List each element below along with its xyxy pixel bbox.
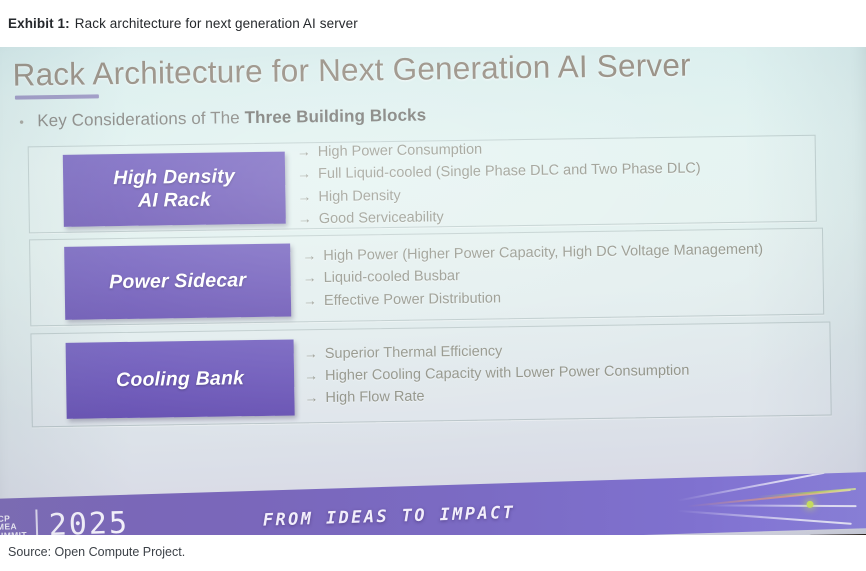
block-chip-label-line1: Power Sidecar — [109, 269, 246, 294]
slide-photo: Rack Architecture for Next Generation AI… — [0, 47, 866, 535]
bullet-icon: • — [19, 114, 37, 129]
slide-surface: Rack Architecture for Next Generation AI… — [0, 47, 866, 535]
block-chip-cooling-bank: Cooling Bank — [66, 339, 295, 418]
arrow-icon: → — [304, 343, 318, 364]
arrow-icon: → — [297, 142, 311, 163]
key-considerations-line: • Key Considerations of The Three Buildi… — [19, 105, 426, 131]
light-streak-decoration — [677, 510, 852, 525]
key-considerations-prefix: Key Considerations of The — [37, 108, 245, 130]
arrow-icon: → — [302, 268, 316, 289]
block-point-text: Effective Power Distribution — [324, 287, 501, 312]
banner-tagline: FROM IDEAS TO IMPACT — [262, 503, 515, 531]
block-chip-high-density-ai-rack: High Density AI Rack — [63, 152, 286, 227]
source-note: Source: Open Compute Project. — [8, 545, 185, 559]
exhibit-label: Exhibit 1: — [8, 16, 70, 31]
block-point-text: High Density — [318, 184, 401, 207]
arrow-icon: → — [298, 208, 312, 229]
exhibit-title: Rack architecture for next generation AI… — [75, 16, 358, 31]
block-point-text: High Flow Rate — [325, 386, 424, 409]
block-points-list: → High Power Consumption → Full Liquid-c… — [297, 137, 702, 228]
arrow-icon: → — [297, 164, 311, 185]
arrow-icon: → — [304, 387, 318, 408]
building-block-row: Power Sidecar → High Power (Higher Power… — [29, 228, 824, 327]
block-points-list: → Superior Thermal Efficiency → Higher C… — [303, 325, 690, 423]
block-point: → Good Serviceability — [298, 202, 702, 230]
title-underline — [15, 94, 99, 99]
block-chip-label-line1: Cooling Bank — [116, 367, 244, 392]
arrow-icon: → — [302, 246, 316, 267]
ocp-summit-logo: OCP EMEA SUMMIT 2025 — [0, 506, 130, 535]
building-block-row: Cooling Bank → Superior Thermal Efficien… — [30, 322, 831, 428]
block-point: → High Flow Rate — [304, 382, 690, 410]
key-considerations-emphasis: Three Building Blocks — [244, 105, 426, 127]
block-point-text: Superior Thermal Efficiency — [325, 340, 503, 365]
block-points-list: → High Power (Higher Power Capacity, Hig… — [302, 229, 764, 321]
light-streak-decoration — [707, 504, 857, 507]
slide-content: Rack Architecture for Next Generation AI… — [4, 47, 866, 535]
logo-divider — [35, 509, 38, 535]
block-point-text: Liquid-cooled Busbar — [323, 265, 460, 289]
block-chip-power-sidecar: Power Sidecar — [64, 244, 291, 320]
arrow-icon: → — [303, 290, 317, 311]
block-point-text: High Power Consumption — [318, 139, 483, 163]
logo-wordmark: OCP EMEA SUMMIT — [0, 513, 27, 535]
key-considerations-text: Key Considerations of The Three Building… — [37, 105, 426, 131]
block-chip-label-line2: AI Rack — [138, 189, 211, 212]
arrow-icon: → — [304, 365, 318, 386]
slide-title: Rack Architecture for Next Generation AI… — [12, 47, 691, 94]
building-block-row: High Density AI Rack → High Power Consum… — [28, 135, 817, 234]
block-chip-label-line1: High Density — [113, 165, 235, 189]
light-streak-decoration — [756, 488, 856, 498]
light-dot-decoration — [806, 501, 813, 508]
logo-line-3: SUMMIT — [0, 531, 27, 535]
exhibit-caption: Exhibit 1: Rack architecture for next ge… — [8, 0, 358, 47]
arrow-icon: → — [297, 186, 311, 207]
block-point-text: Good Serviceability — [319, 206, 444, 230]
logo-year: 2025 — [48, 506, 129, 535]
